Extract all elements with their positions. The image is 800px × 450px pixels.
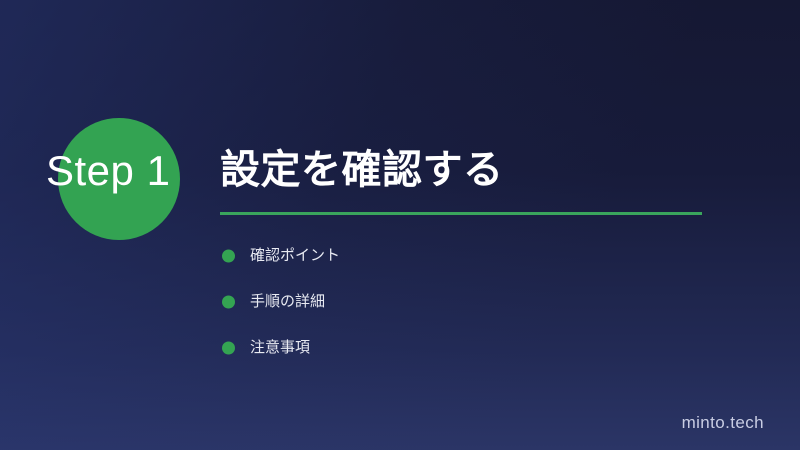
list-item-label: 手順の詳細	[250, 294, 325, 310]
bullet-dot-icon	[222, 296, 235, 309]
step-badge-label: Step 1	[46, 150, 170, 192]
list-item-label: 注意事項	[250, 340, 310, 356]
bullet-dot-icon	[222, 342, 235, 355]
list-item: 手順の詳細	[220, 279, 340, 325]
presentation-slide: Step 1 設定を確認する 確認ポイント 手順の詳細 注意事項 minto.t…	[0, 0, 800, 450]
slide-title: 設定を確認する	[220, 146, 504, 194]
bullet-dot-icon	[222, 250, 235, 263]
list-item: 確認ポイント	[220, 233, 340, 279]
footer-brand-watermark: minto.tech	[682, 414, 764, 432]
bullet-list: 確認ポイント 手順の詳細 注意事項	[220, 233, 340, 371]
list-item-label: 確認ポイント	[250, 248, 340, 264]
list-item: 注意事項	[220, 325, 340, 371]
title-underline-rule	[220, 212, 702, 215]
